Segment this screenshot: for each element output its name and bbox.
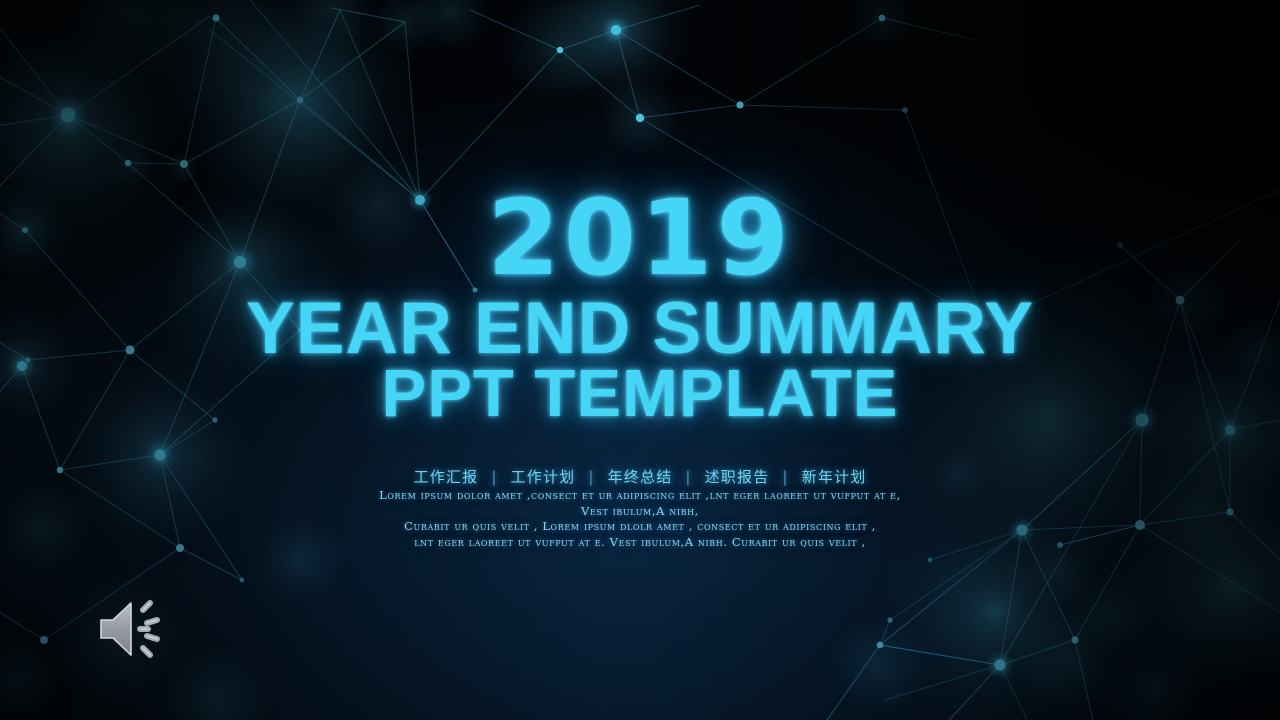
presentation-slide: 2019 YEAR END SUMMARY PPT TEMPLATE 工作汇报 … xyxy=(0,0,1280,720)
nav-item-year-end-summary[interactable]: 年终总结 xyxy=(608,468,673,486)
nav-separator: | xyxy=(775,468,795,486)
nav-separator: | xyxy=(678,468,698,486)
nav-item-work-report[interactable]: 工作汇报 xyxy=(414,468,479,486)
category-nav-line: 工作汇报 | 工作计划 | 年终总结 | 述职报告 | 新年计划 xyxy=(0,466,1280,487)
speaker-audio-icon[interactable] xyxy=(98,596,170,662)
caption-line-1: Lorem ipsum dolor amet ,consect et ur ad… xyxy=(0,488,1280,504)
nav-separator: | xyxy=(484,468,504,486)
title-block: 2019 YEAR END SUMMARY PPT TEMPLATE xyxy=(0,186,1280,429)
nav-item-work-plan[interactable]: 工作计划 xyxy=(511,468,576,486)
caption-line-3: Curabit ur quis velit , Lorem ipsum dlol… xyxy=(0,519,1280,535)
caption-block: Lorem ipsum dolor amet ,consect et ur ad… xyxy=(0,488,1280,550)
year-title: 2019 xyxy=(0,186,1280,290)
nav-separator: | xyxy=(581,468,601,486)
headline-line-2: PPT TEMPLATE xyxy=(0,360,1280,428)
caption-line-4: lnt eger laoreet ut vufput at e. Vest ib… xyxy=(0,535,1280,551)
caption-line-2: Vest ibulum,A nibh, xyxy=(0,504,1280,520)
nav-item-debriefing-report[interactable]: 述职报告 xyxy=(705,468,770,486)
nav-item-new-year-plan[interactable]: 新年计划 xyxy=(802,468,867,486)
